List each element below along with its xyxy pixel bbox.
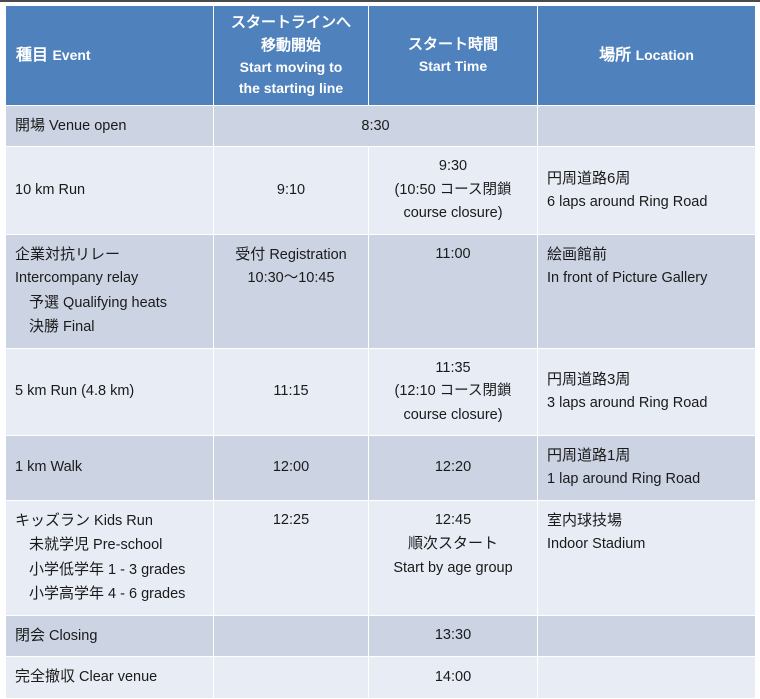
move-time-1km-walk: 12:00 xyxy=(273,459,309,475)
cell-event-1km-walk: 1 km Walk xyxy=(6,436,214,501)
location-en-1km-walk: 1 lap around Ring Road xyxy=(547,468,746,491)
event-en-clear-venue: Clear venue xyxy=(79,669,157,685)
cell-event-5km-run: 5 km Run (4.8 km) xyxy=(6,348,214,435)
location-jp-intercompany-relay: 絵画館前 xyxy=(547,243,746,267)
cell-move-1km-walk: 12:00 xyxy=(214,436,369,501)
column-header-event-en: Event xyxy=(52,47,90,63)
cell-location-venue-open xyxy=(538,106,756,147)
table-header: 種目 Event スタートラインへ 移動開始 Start moving to t… xyxy=(6,6,756,106)
top-rule xyxy=(0,0,760,2)
column-header-event: 種目 Event xyxy=(6,6,214,106)
time-venue-open: 8:30 xyxy=(361,118,389,134)
cell-event-10km-run: 10 km Run xyxy=(6,147,214,234)
start-note-10km-run-line2: course closure) xyxy=(378,202,528,225)
cell-location-kids-run: 室内球技場 Indoor Stadium xyxy=(538,500,756,615)
event-sub-final: 決勝 Final xyxy=(15,315,204,339)
start-note-kids-run-en: Start by age group xyxy=(378,557,528,580)
cell-move-clear-venue xyxy=(214,657,369,698)
event-en-venue-open: Venue open xyxy=(49,118,126,134)
registration-label-en: Registration xyxy=(269,247,346,263)
location-jp-10km-run: 円周道路6周 xyxy=(547,167,746,191)
cell-start-10km-run: 9:30 (10:50 コース閉鎖 course closure) xyxy=(369,147,538,234)
registration-window-intercompany-relay: 10:30〜10:45 xyxy=(223,267,359,290)
event-sub-final-jp: 決勝 xyxy=(29,318,59,335)
event-sub-qualifying-heats-jp: 予選 xyxy=(29,294,59,311)
table-row: 企業対抗リレー Intercompany relay 予選 Qualifying… xyxy=(6,234,756,348)
column-header-move-en-line1: Start moving to xyxy=(222,57,360,78)
event-en-5km-run: 5 km Run (4.8 km) xyxy=(15,383,134,399)
event-jp-venue-open: 開場 xyxy=(15,117,45,134)
cell-move-5km-run: 11:15 xyxy=(214,348,369,435)
cell-start-closing: 13:30 xyxy=(369,615,538,656)
event-schedule-table: 種目 Event スタートラインへ 移動開始 Start moving to t… xyxy=(5,6,756,699)
cell-location-1km-walk: 円周道路1周 1 lap around Ring Road xyxy=(538,436,756,501)
start-note-5km-run-line1: (12:10 コース閉鎖 xyxy=(378,380,528,403)
cell-start-intercompany-relay: 11:00 xyxy=(369,234,538,348)
event-sub-pre-school-jp: 未就学児 xyxy=(29,536,89,553)
cell-move-10km-run: 9:10 xyxy=(214,147,369,234)
cell-location-10km-run: 円周道路6周 6 laps around Ring Road xyxy=(538,147,756,234)
event-sub-qualifying-heats-en: Qualifying heats xyxy=(63,295,167,311)
schedule-table-container: 種目 Event スタートラインへ 移動開始 Start moving to t… xyxy=(5,6,755,670)
cell-event-closing: 閉会 Closing xyxy=(6,615,214,656)
event-en-closing: Closing xyxy=(49,628,97,644)
column-header-start-en: Start Time xyxy=(377,56,529,77)
event-sub-qualifying-heats: 予選 Qualifying heats xyxy=(15,291,204,315)
event-jp-closing: 閉会 xyxy=(15,627,45,644)
event-en-intercompany-relay: Intercompany relay xyxy=(15,267,204,290)
column-header-start-moving: スタートラインへ 移動開始 Start moving to the starti… xyxy=(214,6,369,106)
column-header-location: 場所 Location xyxy=(538,6,756,106)
table-row: 開場 Venue open 8:30 xyxy=(6,106,756,147)
cell-start-5km-run: 11:35 (12:10 コース閉鎖 course closure) xyxy=(369,348,538,435)
move-time-10km-run: 9:10 xyxy=(277,182,305,198)
cell-location-5km-run: 円周道路3周 3 laps around Ring Road xyxy=(538,348,756,435)
table-row: 1 km Walk 12:00 12:20 円周道路1周 1 lap aroun… xyxy=(6,436,756,501)
cell-merged-time-venue-open: 8:30 xyxy=(214,106,538,147)
event-jp-clear-venue: 完全撤収 xyxy=(15,668,75,685)
location-jp-5km-run: 円周道路3周 xyxy=(547,368,746,392)
cell-location-intercompany-relay: 絵画館前 In front of Picture Gallery xyxy=(538,234,756,348)
cell-move-kids-run: 12:25 xyxy=(214,500,369,615)
table-row: 完全撤収 Clear venue 14:00 xyxy=(6,657,756,698)
event-sub-lower-grades-jp: 小学低学年 xyxy=(29,561,104,578)
location-jp-1km-walk: 円周道路1周 xyxy=(547,444,746,468)
table-body: 開場 Venue open 8:30 10 km Run 9:10 9:30 (… xyxy=(6,106,756,699)
start-note-5km-run-line2: course closure) xyxy=(378,404,528,427)
cell-event-intercompany-relay: 企業対抗リレー Intercompany relay 予選 Qualifying… xyxy=(6,234,214,348)
cell-location-closing xyxy=(538,615,756,656)
cell-start-1km-walk: 12:20 xyxy=(369,436,538,501)
event-sub-final-en: Final xyxy=(63,319,94,335)
cell-event-kids-run: キッズラン Kids Run 未就学児 Pre-school 小学低学年 1 -… xyxy=(6,500,214,615)
table-row: 10 km Run 9:10 9:30 (10:50 コース閉鎖 course … xyxy=(6,147,756,234)
cell-event-venue-open: 開場 Venue open xyxy=(6,106,214,147)
column-header-location-en: Location xyxy=(636,47,694,63)
location-en-10km-run: 6 laps around Ring Road xyxy=(547,191,746,214)
event-sub-upper-grades-en: 4 - 6 grades xyxy=(108,586,185,602)
start-time-1km-walk: 12:20 xyxy=(435,459,471,475)
cell-location-clear-venue xyxy=(538,657,756,698)
registration-label: 受付 Registration xyxy=(223,243,359,267)
move-time-5km-run: 11:15 xyxy=(273,383,308,399)
event-sub-pre-school: 未就学児 Pre-school xyxy=(15,533,204,557)
event-en-10km-run: 10 km Run xyxy=(15,182,85,198)
event-jp-intercompany-relay: 企業対抗リレー xyxy=(15,243,204,267)
event-kids-run-title: キッズラン Kids Run xyxy=(15,509,204,533)
event-sub-pre-school-en: Pre-school xyxy=(93,537,162,553)
location-en-5km-run: 3 laps around Ring Road xyxy=(547,392,746,415)
cell-event-clear-venue: 完全撤収 Clear venue xyxy=(6,657,214,698)
column-header-move-en-line2: the starting line xyxy=(222,78,360,99)
start-time-closing: 13:30 xyxy=(435,627,471,643)
start-time-clear-venue: 14:00 xyxy=(435,669,471,685)
event-en-1km-walk: 1 km Walk xyxy=(15,459,82,475)
cell-start-kids-run: 12:45 順次スタート Start by age group xyxy=(369,500,538,615)
event-sub-upper-grades-jp: 小学高学年 xyxy=(29,585,104,602)
start-note-kids-run-jp: 順次スタート xyxy=(378,532,528,556)
start-time-5km-run: 11:35 xyxy=(378,357,528,380)
column-header-move-jp-line1: スタートラインへ xyxy=(222,12,360,35)
table-row: キッズラン Kids Run 未就学児 Pre-school 小学低学年 1 -… xyxy=(6,500,756,615)
start-time-10km-run: 9:30 xyxy=(378,155,528,178)
table-row: 5 km Run (4.8 km) 11:15 11:35 (12:10 コース… xyxy=(6,348,756,435)
start-time-intercompany-relay: 11:00 xyxy=(378,243,528,266)
cell-start-clear-venue: 14:00 xyxy=(369,657,538,698)
location-en-intercompany-relay: In front of Picture Gallery xyxy=(547,267,746,290)
event-en-kids-run: Kids Run xyxy=(94,513,153,529)
location-en-kids-run: Indoor Stadium xyxy=(547,533,746,556)
header-row: 種目 Event スタートラインへ 移動開始 Start moving to t… xyxy=(6,6,756,106)
event-sub-upper-grades: 小学高学年 4 - 6 grades xyxy=(15,582,204,606)
table-row: 閉会 Closing 13:30 xyxy=(6,615,756,656)
cell-move-intercompany-relay: 受付 Registration 10:30〜10:45 xyxy=(214,234,369,348)
column-header-start-time: スタート時間 Start Time xyxy=(369,6,538,106)
start-time-kids-run: 12:45 xyxy=(378,509,528,532)
move-time-kids-run: 12:25 xyxy=(273,512,309,528)
column-header-start-jp: スタート時間 xyxy=(377,34,529,57)
location-jp-kids-run: 室内球技場 xyxy=(547,509,746,533)
column-header-event-jp: 種目 xyxy=(16,47,48,64)
event-sub-lower-grades: 小学低学年 1 - 3 grades xyxy=(15,558,204,582)
registration-label-jp: 受付 xyxy=(235,246,265,263)
start-note-10km-run-line1: (10:50 コース閉鎖 xyxy=(378,179,528,202)
event-jp-kids-run: キッズラン xyxy=(15,512,90,529)
column-header-move-jp-line2: 移動開始 xyxy=(222,35,360,58)
column-header-location-jp: 場所 xyxy=(599,47,631,64)
event-sub-lower-grades-en: 1 - 3 grades xyxy=(108,562,185,578)
cell-move-closing xyxy=(214,615,369,656)
